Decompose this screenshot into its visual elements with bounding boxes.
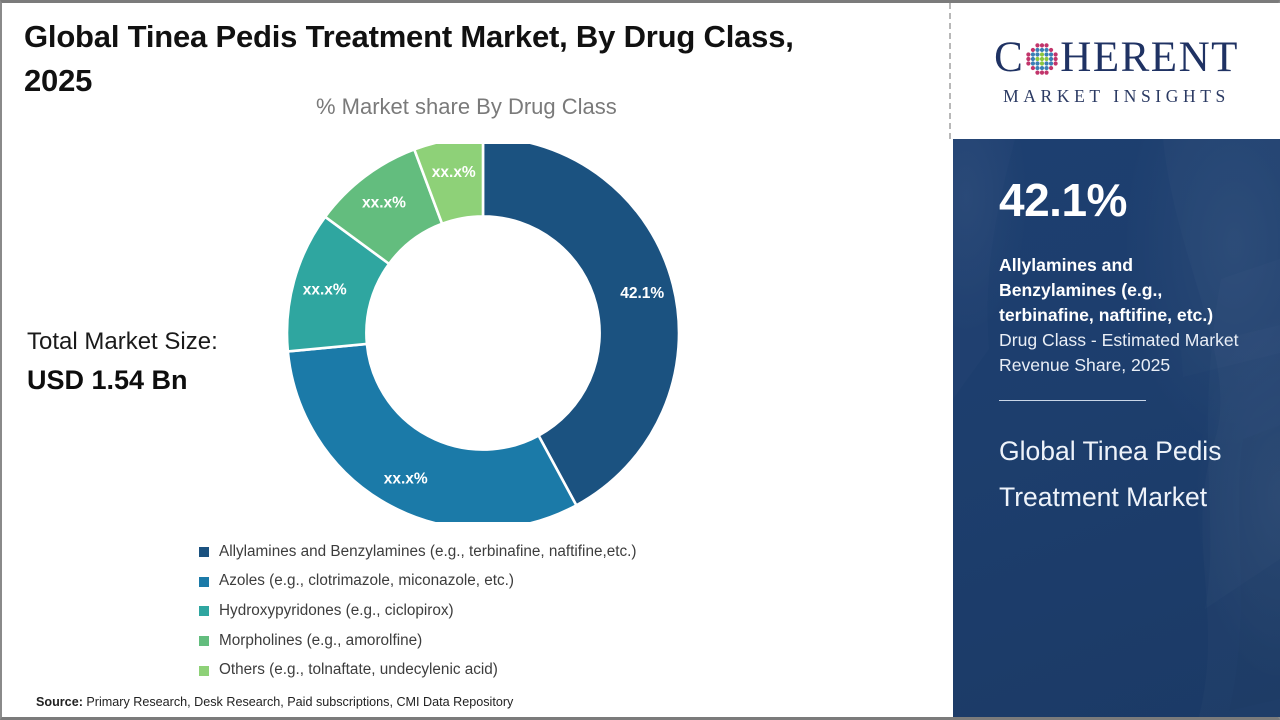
legend-color-swatch-icon [199,666,209,676]
legend-item-label: Allylamines and Benzylamines (e.g., terb… [219,543,636,561]
chart-legend: Allylamines and Benzylamines (e.g., terb… [199,537,759,685]
total-market-size-block: Total Market Size: USD 1.54 Bn [27,326,297,399]
highlight-desc-rest: Drug Class - Estimated Market Revenue Sh… [999,330,1239,375]
legend-color-swatch-icon [199,547,209,557]
highlight-panel: 42.1% Allylamines and Benzylamines (e.g.… [953,139,1280,717]
highlight-desc-bold: Allylamines and Benzylamines (e.g., terb… [999,255,1213,325]
source-label: Source: [36,695,83,709]
legend-item[interactable]: Morpholines (e.g., amorolfine) [199,626,759,656]
legend-item[interactable]: Others (e.g., tolnaftate, undecylenic ac… [199,655,759,685]
donut-slice-label: xx.x% [432,164,476,181]
donut-slice-label: 42.1% [620,285,664,302]
legend-item[interactable]: Allylamines and Benzylamines (e.g., terb… [199,537,759,567]
brand-logo-word-rest: HERENT [1060,34,1239,81]
donut-slice [288,344,576,522]
total-market-size-label: Total Market Size: [27,326,297,358]
legend-item[interactable]: Hydroxypyridones (e.g., ciclopirox) [199,596,759,626]
donut-slice-group [287,144,679,522]
total-market-size-value: USD 1.54 Bn [27,362,297,398]
legend-item-label: Hydroxypyridones (e.g., ciclopirox) [219,602,454,620]
donut-slice-label: xx.x% [384,470,428,487]
donut-chart: 42.1%xx.x%xx.x%xx.x%xx.x% [286,144,680,522]
brand-logo: C HERENT MARKET INSIGHTS [953,3,1280,139]
vertical-dashed-divider [949,3,951,139]
brand-logo-inner: C HERENT MARKET INSIGHTS [967,36,1267,107]
brand-logo-tagline: MARKET INSIGHTS [967,86,1267,107]
legend-color-swatch-icon [199,577,209,587]
chart-panel: Global Tinea Pedis Treatment Market, By … [2,3,948,717]
donut-chart-svg: 42.1%xx.x%xx.x%xx.x%xx.x% [286,144,680,522]
highlight-panel-divider [999,400,1146,401]
donut-slice-label: xx.x% [362,194,406,211]
brand-logo-wordmark: C HERENT [967,36,1267,79]
infographic-page: Global Tinea Pedis Treatment Market, By … [0,0,1280,720]
source-text: Primary Research, Desk Research, Paid su… [83,695,513,709]
legend-item-label: Azoles (e.g., clotrimazole, miconazole, … [219,572,514,590]
legend-item-label: Others (e.g., tolnaftate, undecylenic ac… [219,661,498,679]
highlight-panel-footer: Global Tinea Pedis Treatment Market [999,429,1249,521]
donut-slice-label: xx.x% [303,282,347,299]
highlight-stat-value: 42.1% [999,177,1249,223]
legend-color-swatch-icon [199,606,209,616]
legend-item-label: Morpholines (e.g., amorolfine) [219,632,422,650]
source-note: Source: Primary Research, Desk Research,… [36,695,513,709]
legend-item[interactable]: Azoles (e.g., clotrimazole, miconazole, … [199,567,759,597]
legend-color-swatch-icon [199,636,209,646]
brand-logo-letter-c: C [994,34,1024,81]
page-title: Global Tinea Pedis Treatment Market, By … [24,15,864,103]
highlight-stat-description: Allylamines and Benzylamines (e.g., terb… [999,253,1249,378]
globe-dots-icon [1025,42,1059,76]
highlight-panel-content: 42.1% Allylamines and Benzylamines (e.g.… [999,139,1249,521]
chart-subtitle: % Market share By Drug Class [316,94,617,120]
